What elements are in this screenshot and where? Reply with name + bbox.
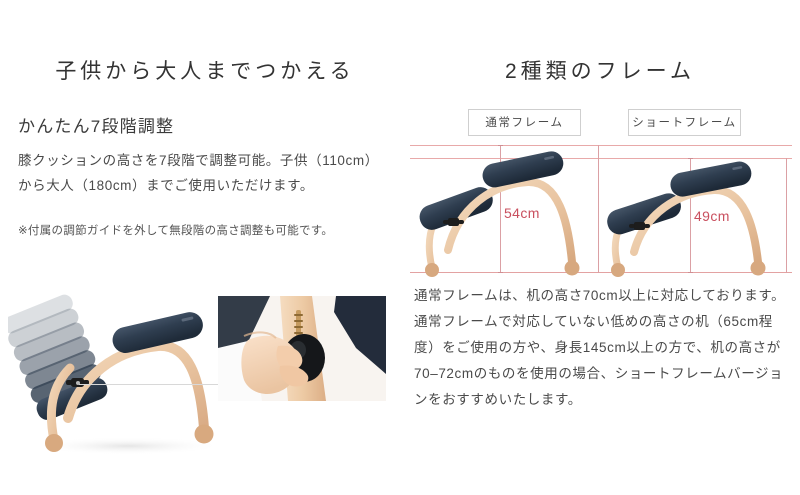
left-sub-title: かんたん7段階調整 — [18, 112, 174, 137]
left-lead-paragraph: 膝クッションの高さを7段階で調整可能。子供（110cm）から大人（180cm）ま… — [18, 148, 386, 198]
normal-front-foot — [565, 261, 580, 276]
short-rear-foot — [611, 263, 625, 277]
right-description: 通常フレームは、机の高さ70cm以上に対応しております。通常フレームで対応してい… — [414, 283, 792, 413]
right-column: 2種類のフレーム 通常フレーム ショートフレーム 54cm 49cm — [400, 0, 800, 495]
chair-short-illustration — [596, 156, 796, 276]
frame-tag-normal[interactable]: 通常フレーム — [468, 109, 581, 136]
chair-normal-illustration — [408, 142, 608, 276]
product-feature-page: 子供から大人までつかえる かんたん7段階調整 膝クッションの高さを7段階で調整可… — [0, 0, 800, 495]
left-section-title: 子供から大人までつかえる — [0, 55, 400, 85]
normal-rear-foot — [425, 263, 439, 277]
right-section-title: 2種類のフレーム — [400, 55, 800, 85]
knob-closeup-inset — [218, 296, 386, 401]
front-foot — [195, 425, 214, 444]
chair-normal-frame — [408, 142, 608, 276]
knob-closeup-illustration — [218, 296, 386, 401]
chair-short-frame — [596, 156, 796, 276]
left-footnote: ※付属の調節ガイドを外して無段階の高さ調整も可能です。 — [18, 222, 398, 240]
frame-tag-short[interactable]: ショートフレーム — [628, 109, 741, 136]
short-front-foot — [751, 261, 766, 276]
ghost-cushion-stack — [8, 292, 110, 423]
frame-height-diagram: 54cm 49cm — [400, 140, 800, 280]
rear-foot — [45, 434, 63, 452]
left-column: 子供から大人までつかえる かんたん7段階調整 膝クッションの高さを7段階で調整可… — [0, 0, 400, 495]
connector-line — [79, 384, 219, 385]
